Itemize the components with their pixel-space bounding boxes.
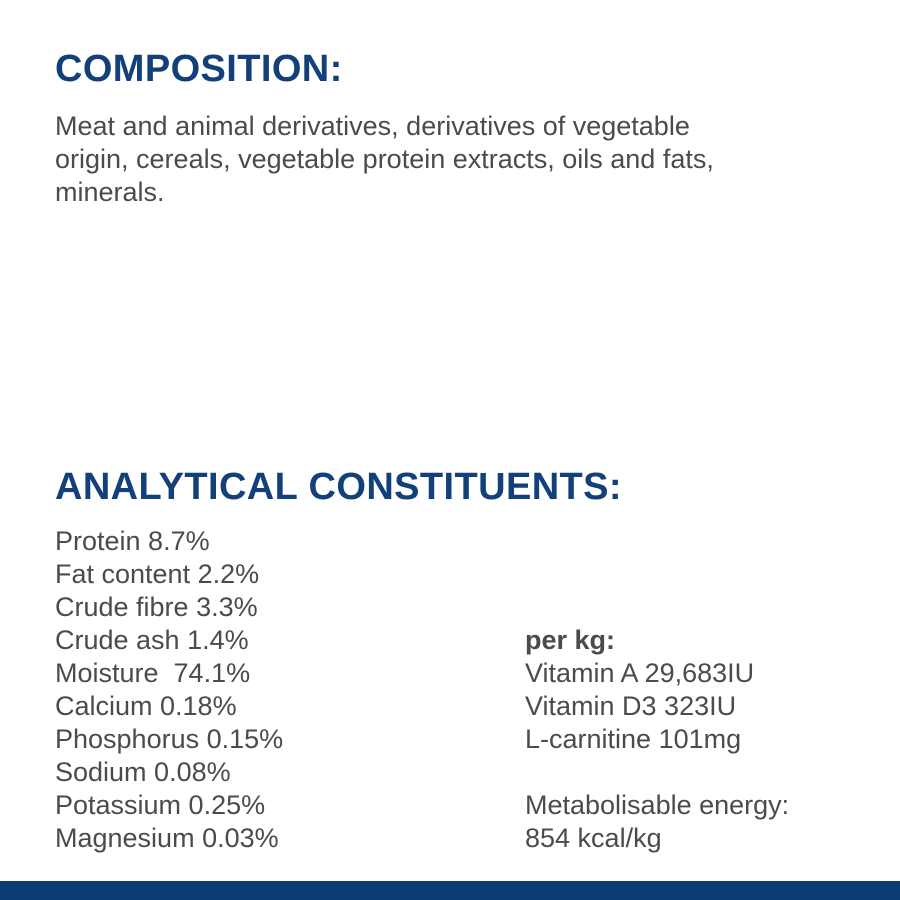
metabolisable-energy-value: 854 kcal/kg [525, 822, 875, 855]
list-item: Protein 8.7% [55, 525, 495, 558]
composition-body-text: Meat and animal derivatives, derivatives… [55, 110, 755, 209]
metabolisable-energy-block: Metabolisable energy: 854 kcal/kg [525, 789, 875, 855]
list-item: L-carnitine 101mg [525, 723, 875, 756]
list-item: Moisture 74.1% [55, 657, 495, 690]
list-item: Vitamin A 29,683IU [525, 657, 875, 690]
list-item: Calcium 0.18% [55, 690, 495, 723]
list-item: Crude ash 1.4% [55, 624, 495, 657]
analytical-constituents-content: Protein 8.7% Fat content 2.2% Crude fibr… [0, 525, 900, 865]
analytical-constituents-heading: ANALYTICAL CONSTITUENTS: [55, 468, 622, 506]
composition-heading: COMPOSITION: [55, 50, 343, 88]
per-kg-list: per kg: Vitamin A 29,683IU Vitamin D3 32… [525, 624, 875, 855]
list-item: Crude fibre 3.3% [55, 591, 495, 624]
list-item: Vitamin D3 323IU [525, 690, 875, 723]
label-sheet: COMPOSITION: Meat and animal derivatives… [0, 0, 900, 900]
list-item: Sodium 0.08% [55, 756, 495, 789]
per-kg-label: per kg: [525, 624, 875, 657]
list-item: Phosphorus 0.15% [55, 723, 495, 756]
list-item: Potassium 0.25% [55, 789, 495, 822]
list-item: Fat content 2.2% [55, 558, 495, 591]
list-item: Magnesium 0.03% [55, 822, 495, 855]
metabolisable-energy-label: Metabolisable energy: [525, 789, 875, 822]
nutrient-list: Protein 8.7% Fat content 2.2% Crude fibr… [55, 525, 495, 855]
bottom-brand-bar [0, 881, 900, 900]
